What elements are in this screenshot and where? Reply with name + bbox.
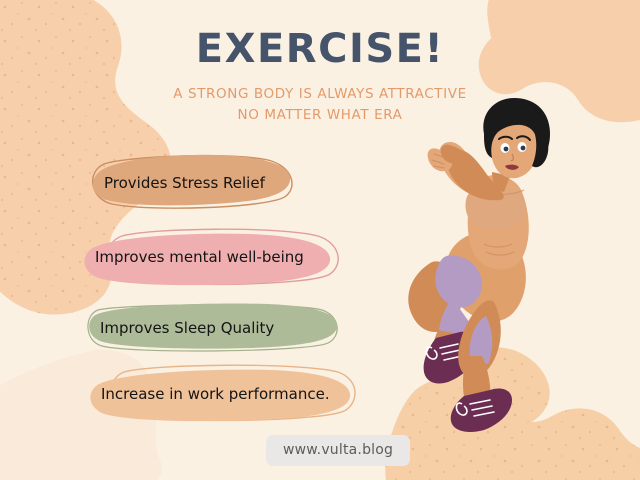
poster-canvas: EXERCISE! A STRONG BODY IS ALWAYS ATTRAC…	[0, 0, 640, 480]
benefit-label-0: Provides Stress Relief	[104, 174, 265, 192]
website-url-badge[interactable]: www.vulta.blog	[266, 435, 410, 466]
page-subtitle: A STRONG BODY IS ALWAYS ATTRACTIVE NO MA…	[160, 84, 480, 126]
page-title: EXERCISE!	[0, 26, 640, 72]
benefit-label-2: Improves Sleep Quality	[100, 319, 274, 337]
benefit-label-1: Improves mental well-being	[95, 248, 304, 266]
benefit-label-3: Increase in work performance.	[101, 385, 330, 403]
content-layer: EXERCISE! A STRONG BODY IS ALWAYS ATTRAC…	[0, 0, 640, 480]
